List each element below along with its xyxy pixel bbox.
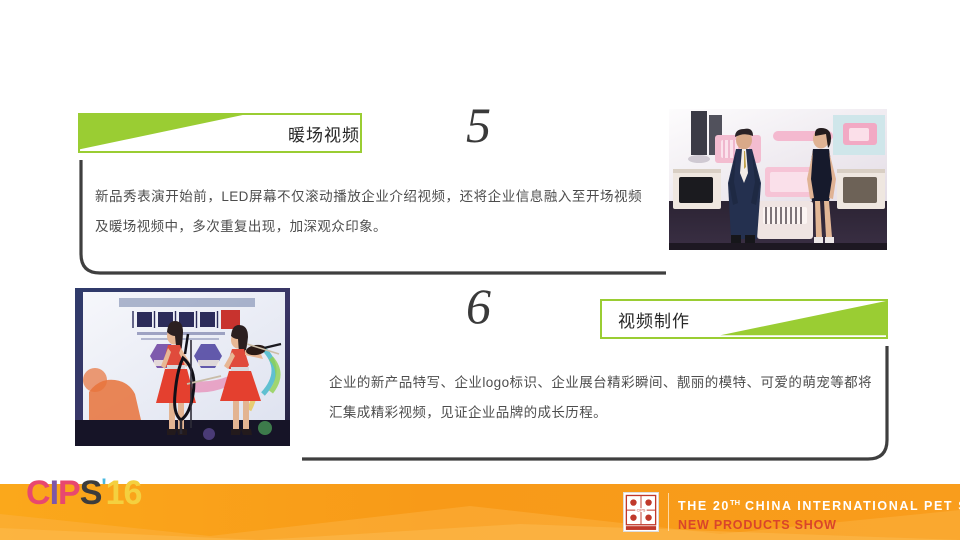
section-photo-5 — [669, 109, 887, 250]
logo-year: 16 — [106, 476, 142, 510]
footer-title-prefix: THE 20 — [678, 499, 730, 513]
footer-subtitle-line: NEW PRODUCTS SHOW — [678, 519, 960, 532]
section-tab-label-6: 视频制作 — [602, 301, 888, 337]
section-body-5: 新品秀表演开始前，LED屏幕不仅滚动播放企业介绍视频，还将企业信息融入至开场视频… — [95, 182, 642, 243]
footer-title-suffix: CHINA INTERNATIONAL PET SHOW — [740, 499, 960, 513]
svg-text:CIPS: CIPS — [637, 509, 646, 513]
logo-letter-s: S — [80, 476, 102, 510]
cips-wordmark-logo: CIPS'16 — [26, 476, 141, 510]
section-tab-label-5: 暖场视频 — [80, 115, 362, 151]
section-tab-5: 暖场视频 — [78, 113, 362, 153]
logo-letter-p: P — [58, 476, 80, 510]
slide-canvas: 暖场视频 5 新品秀表演开始前，LED屏幕不仅滚动播放企业介绍视频，还将企业信息… — [0, 0, 960, 540]
footer-title-line: THE 20TH CHINA INTERNATIONAL PET SHOW — [678, 499, 960, 513]
section-tab-6: 视频制作 — [600, 299, 888, 339]
slide-footer: CIPS THE 20TH CHINA INTERNATIONAL PET SH… — [0, 484, 960, 540]
cips-emblem-icon: CIPS — [623, 492, 659, 532]
footer-text-block: THE 20TH CHINA INTERNATIONAL PET SHOW NE… — [678, 499, 960, 531]
footer-divider — [668, 493, 669, 531]
logo-letter-c: C — [26, 476, 50, 510]
section-photo-6 — [75, 288, 290, 446]
section-numeral-6: 6 — [466, 281, 491, 331]
section-body-6: 企业的新产品特写、企业logo标识、企业展台精彩瞬间、靓丽的模特、可爱的萌宠等都… — [329, 368, 872, 429]
footer-title-ordinal: TH — [730, 498, 740, 507]
logo-letter-i: I — [50, 476, 58, 510]
section-numeral-5: 5 — [466, 100, 491, 150]
